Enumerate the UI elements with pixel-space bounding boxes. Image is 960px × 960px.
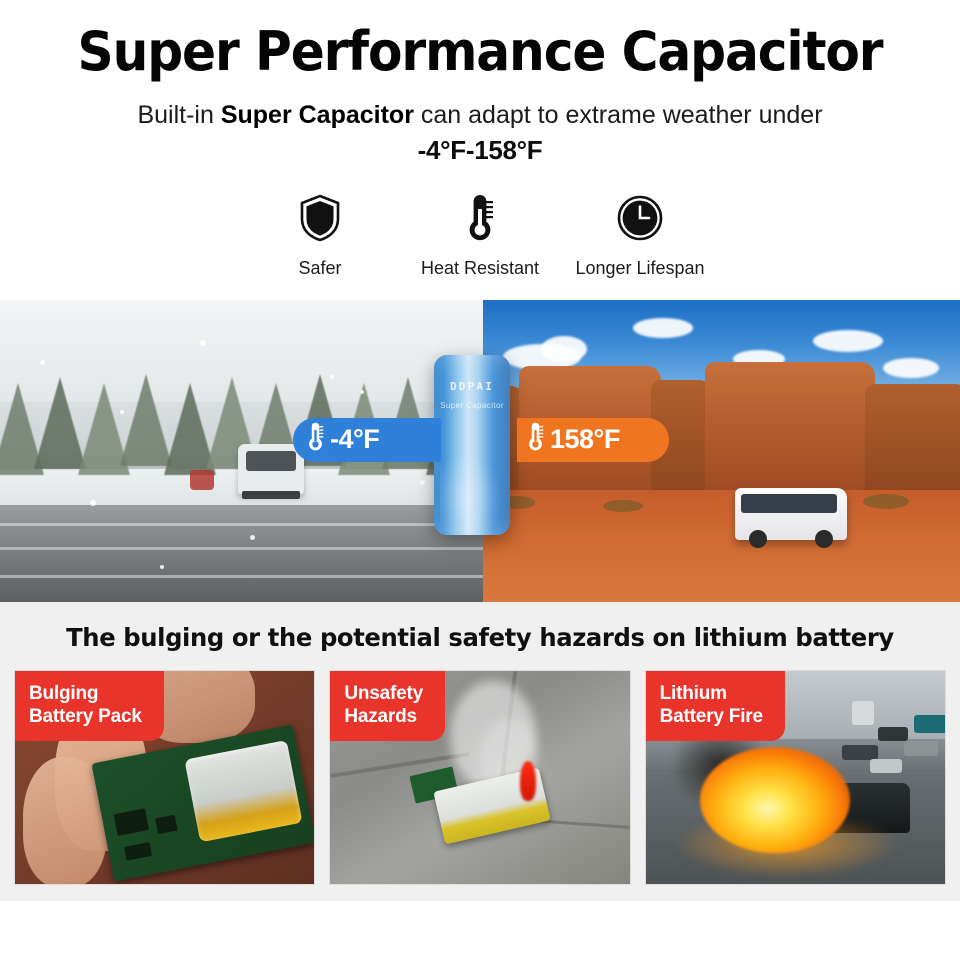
feature-item-heat-resistant: Heat Resistant	[400, 192, 560, 279]
hot-temperature-value: 158°F	[550, 424, 620, 455]
subtitle-part-2: can adapt to extrame weather under	[414, 101, 823, 129]
clock-icon	[560, 192, 720, 244]
page-title: Super Performance Capacitor	[34, 24, 927, 81]
feature-list: Safer Heat Resistant	[0, 192, 960, 279]
shield-icon	[240, 192, 400, 244]
subtitle-part-1: Built-in	[137, 101, 220, 129]
hazard-card-label: Unsafety Hazards	[330, 671, 445, 741]
flame-icon	[520, 761, 536, 801]
header-section: Super Performance Capacitor Built-in Sup…	[0, 0, 960, 279]
feature-item-longer-lifespan: Longer Lifespan	[560, 192, 720, 279]
fireball	[700, 747, 850, 853]
hazard-section: The bulging or the potential safety haza…	[0, 602, 960, 901]
hazard-card-label: Lithium Battery Fire	[646, 671, 785, 741]
feature-label: Longer Lifespan	[560, 258, 720, 279]
subtitle-emphasis: Super Capacitor	[221, 101, 414, 129]
hazard-card-unsafety-hazards: Unsafety Hazards	[329, 670, 630, 885]
capacitor-model-label: Super Capacitor	[434, 401, 510, 410]
hazard-card-lithium-battery-fire: Lithium Battery Fire	[645, 670, 946, 885]
feature-label: Heat Resistant	[400, 258, 560, 279]
cold-temperature-badge: -4°F	[293, 418, 441, 462]
distant-car	[190, 470, 214, 490]
feature-label: Safer	[240, 258, 400, 279]
hazard-card-grid: Bulging Battery Pack Unsafety Hazards	[0, 670, 960, 885]
temperature-photo-band: DDPAI Super Capacitor -4°F	[0, 300, 960, 602]
thermometer-icon	[307, 421, 324, 458]
swollen-battery-cell	[184, 740, 302, 842]
super-capacitor-product: DDPAI Super Capacitor	[434, 355, 510, 535]
capacitor-brand-label: DDPAI	[434, 380, 510, 393]
hazard-card-label: Bulging Battery Pack	[15, 671, 164, 741]
temperature-range: -4°F-158°F	[0, 135, 960, 166]
subtitle: Built-in Super Capacitor can adapt to ex…	[0, 99, 960, 131]
snow-car	[238, 444, 304, 494]
hazard-title: The bulging or the potential safety haza…	[14, 623, 945, 652]
cold-temperature-value: -4°F	[330, 424, 379, 455]
hazard-card-bulging-battery: Bulging Battery Pack	[14, 670, 315, 885]
desert-suv	[735, 488, 847, 540]
snow-road	[0, 505, 483, 602]
thermometer-icon	[527, 421, 544, 458]
thermometer-icon	[400, 192, 560, 244]
feature-item-safer: Safer	[240, 192, 400, 279]
hot-temperature-badge: 158°F	[517, 418, 669, 462]
